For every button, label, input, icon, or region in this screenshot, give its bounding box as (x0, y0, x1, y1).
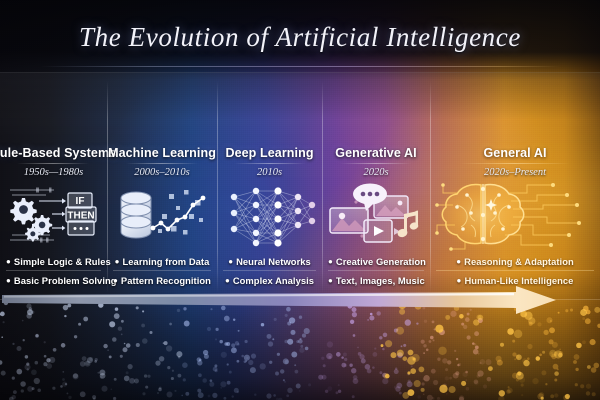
icon-label-ellipsis (73, 227, 88, 230)
page-title-text: The Evolution of Artificial Intelligence (0, 22, 600, 53)
bullet-text: Creative Generation (336, 256, 426, 267)
stage-icon-container (322, 178, 430, 252)
progress-arrow (0, 288, 600, 322)
bullet-text: Learning from Data (123, 256, 210, 267)
icon-label-if: IF (75, 196, 84, 207)
stage-title: General AI (483, 146, 546, 160)
list-item: ●Simple Logic & Rules (6, 252, 101, 270)
play-button-icon (364, 220, 392, 242)
scatter-squares (158, 190, 203, 235)
gears-if-then-icon: IF THEN (6, 184, 102, 246)
list-item: ●Pattern Recognition (113, 270, 211, 289)
bullet-dot-icon: ● (6, 276, 11, 285)
timeline-panel: Rule-Based Systems 1950s—1980s (0, 72, 600, 300)
stage-era: 2010s (257, 163, 282, 178)
list-item: ●Creative Generation (328, 252, 424, 270)
stage-column-deep-learning[interactable]: Deep Learning 2010s ●Neural Networks ●Co… (217, 73, 322, 299)
list-item: ●Text, Images, Music (328, 270, 424, 289)
list-item: ●Learning from Data (113, 252, 211, 270)
icon-label-then: THEN (67, 211, 94, 222)
bullet-text: Complex Analysis (233, 275, 314, 286)
image-frame-front (330, 208, 368, 233)
stage-column-machine-learning[interactable]: Machine Learning 2000s–2010s (107, 73, 217, 299)
bullet-dot-icon: ● (456, 257, 461, 266)
bullet-text: Neural Networks (236, 256, 311, 267)
bullet-text: Pattern Recognition (121, 275, 211, 286)
neural-network-icon (224, 183, 316, 247)
stage-title: Machine Learning (108, 146, 216, 160)
stage-era: 2020s–Present (484, 163, 546, 178)
database-cylinder (121, 192, 151, 238)
stage-era: 2020s (363, 163, 388, 178)
list-item: ●Complex Analysis (223, 270, 316, 289)
stage-icon-container (430, 178, 600, 252)
bullet-dot-icon: ● (228, 257, 233, 266)
stage-column-rule-based-systems[interactable]: Rule-Based Systems 1950s—1980s (0, 73, 107, 299)
bullet-text: Human-Like Intelligence (464, 275, 573, 286)
bullet-dot-icon: ● (457, 276, 462, 285)
list-item: ●Basic Problem Solving (6, 270, 101, 289)
circuit-brain-icon (431, 179, 599, 251)
stage-title: Rule-Based Systems (0, 146, 116, 160)
bullet-dot-icon: ● (115, 257, 120, 266)
bullet-dot-icon: ● (6, 257, 11, 266)
page-title: The Evolution of Artificial Intelligence (0, 22, 600, 53)
stage-era: 1950s—1980s (24, 163, 84, 178)
bullet-dot-icon: ● (328, 276, 333, 285)
stage-icon-container (217, 178, 322, 252)
bullet-text: Reasoning & Adaptation (464, 256, 574, 267)
stage-column-general-ai[interactable]: General AI 2020s–Present (430, 73, 600, 299)
bullet-dot-icon: ● (113, 276, 118, 285)
title-divider (40, 66, 560, 67)
list-item: ●Neural Networks (223, 252, 316, 270)
bullet-text: Simple Logic & Rules (14, 256, 111, 267)
stage-title: Deep Learning (225, 146, 313, 160)
list-item: ●Reasoning & Adaptation (436, 252, 594, 270)
bullet-dot-icon: ● (225, 276, 230, 285)
database-scatter-plot-icon (115, 184, 210, 246)
media-generation-icon (326, 182, 426, 248)
bullet-text: Text, Images, Music (336, 275, 425, 286)
bullet-dot-icon: ● (328, 257, 333, 266)
stage-column-generative-ai[interactable]: Generative AI 2020s (322, 73, 430, 299)
infographic-canvas: The Evolution of Artificial Intelligence… (0, 0, 600, 400)
list-item: ●Human-Like Intelligence (436, 270, 594, 289)
bullet-text: Basic Problem Solving (14, 275, 117, 286)
stage-icon-container: IF THEN (0, 178, 107, 252)
stage-title: Generative AI (335, 146, 416, 160)
stage-era: 2000s–2010s (134, 163, 189, 178)
stage-icon-container (107, 178, 217, 252)
